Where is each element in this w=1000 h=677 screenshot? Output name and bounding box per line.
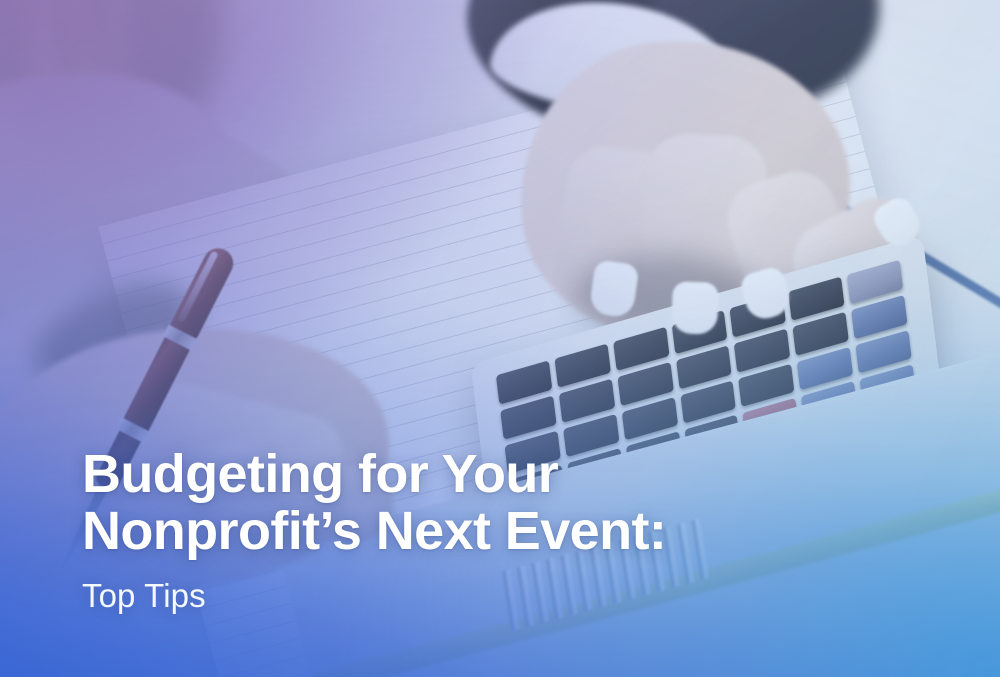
banner-headline: Budgeting for Your Nonprofit’s Next Even… xyxy=(82,446,842,559)
banner-subheadline: Top Tips xyxy=(82,577,842,615)
banner-text-block: Budgeting for Your Nonprofit’s Next Even… xyxy=(82,446,842,615)
blog-header-banner: Budgeting for Your Nonprofit’s Next Even… xyxy=(0,0,1000,677)
